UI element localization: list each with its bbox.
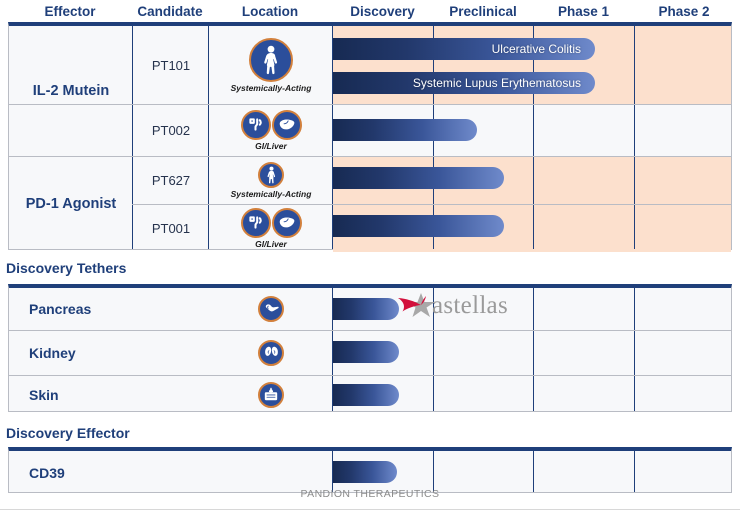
liver-icon (272, 110, 302, 140)
footer-divider (0, 509, 740, 510)
bar-pt002 (333, 119, 477, 141)
candidate-cell-pt101: PT101 (133, 26, 209, 104)
liver-icon (272, 208, 302, 238)
effector-cell-il2: IL-2 Mutein (9, 26, 133, 156)
section-heading-discovery-effector: Discovery Effector (6, 425, 130, 441)
bar-pancreas (333, 298, 399, 320)
discovery-tethers-table: Pancreas Kidney (8, 284, 732, 412)
tether-label-kidney: Kidney (29, 330, 76, 375)
column-header-effector: Effector (8, 4, 132, 19)
column-header-candidate: Candidate (132, 4, 208, 19)
column-header-phase2: Phase 2 (634, 4, 734, 19)
pancreas-icon (258, 296, 284, 322)
candidate-cell-pt627: PT627 (133, 156, 209, 204)
bar-label-systemic-lupus-erythematosus: Systemic Lupus Erythematosus (413, 76, 595, 90)
bar-pt001 (333, 215, 504, 237)
column-header-row: Effector Candidate Location Discovery Pr… (0, 0, 740, 22)
location-caption-pt001: GI/Liver (255, 239, 287, 249)
grid-line-effector-discovery (433, 451, 434, 492)
tether-label-skin: Skin (29, 375, 59, 414)
astellas-wordmark: astellas (432, 293, 508, 318)
tether-label-pancreas: Pancreas (29, 288, 91, 330)
bar-pt101-systemic-lupus-erythematosus: Systemic Lupus Erythematosus (333, 72, 595, 94)
grid-line-phase1 (634, 26, 635, 249)
location-cell-pt001: GI/Liver (209, 204, 333, 252)
location-caption-pt002: GI/Liver (255, 141, 287, 151)
grid-line-tether-phase1 (634, 288, 635, 411)
tether-row-divider-2 (9, 375, 731, 376)
kidney-icon (258, 340, 284, 366)
main-pipeline-table: IL-2 Mutein PD-1 Agonist PT101 Systemica… (8, 22, 732, 250)
tether-location-kidney (209, 330, 333, 375)
tether-row-divider-1 (9, 330, 731, 331)
human-body-icon (249, 38, 293, 82)
column-header-location: Location (208, 4, 332, 19)
tether-location-skin (209, 375, 333, 414)
location-icons-pt001 (241, 208, 302, 238)
effector-cell-pd1: PD-1 Agonist (9, 156, 133, 252)
grid-line-effector-phase1 (634, 451, 635, 492)
location-cell-pt002: GI/Liver (209, 104, 333, 156)
human-body-icon (258, 162, 284, 188)
bar-pt101-ulcerative-colitis: Ulcerative Colitis (333, 38, 595, 60)
bar-cd39 (333, 461, 397, 483)
location-cell-pt627: Systemically-Acting (209, 156, 333, 204)
location-icons-pt627 (258, 162, 284, 188)
intestine-icon (241, 110, 271, 140)
column-header-preclinical: Preclinical (433, 4, 533, 19)
bar-label-ulcerative-colitis: Ulcerative Colitis (492, 42, 595, 56)
bar-skin (333, 384, 399, 406)
section-heading-discovery-tethers: Discovery Tethers (6, 260, 126, 276)
pipeline-chart: Effector Candidate Location Discovery Pr… (0, 0, 740, 513)
bar-pt627 (333, 167, 504, 189)
location-caption-pt627: Systemically-Acting (231, 189, 312, 199)
candidate-cell-pt001: PT001 (133, 204, 209, 252)
astellas-mark-icon (396, 289, 438, 321)
intestine-icon (241, 208, 271, 238)
candidate-cell-pt002: PT002 (133, 104, 209, 156)
location-cell-pt101: Systemically-Acting (209, 26, 333, 104)
footer-company-name: PANDION THERAPEUTICS (0, 488, 740, 500)
grid-line-effector-preclinical (533, 451, 534, 492)
astellas-partner-logo: astellas (396, 288, 508, 322)
bar-kidney (333, 341, 399, 363)
column-header-discovery: Discovery (332, 4, 433, 19)
discovery-effector-table: CD39 (8, 447, 732, 493)
skin-icon (258, 382, 284, 408)
grid-line-tether-preclinical (533, 288, 534, 411)
tether-location-pancreas (209, 288, 333, 330)
location-icons-pt101 (249, 38, 293, 82)
column-header-phase1: Phase 1 (533, 4, 634, 19)
location-caption-pt101: Systemically-Acting (231, 83, 312, 93)
location-icons-pt002 (241, 110, 302, 140)
